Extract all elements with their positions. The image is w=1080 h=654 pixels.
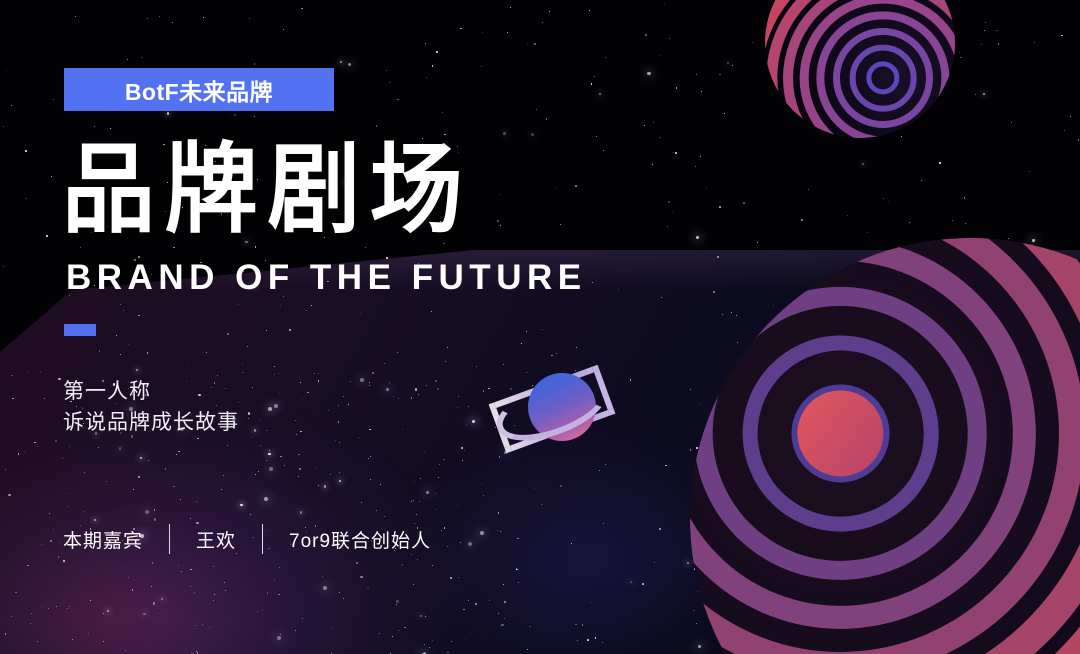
guest-divider-1 <box>169 524 170 554</box>
program-badge: BotF未来品牌 <box>64 68 334 111</box>
guest-divider-2 <box>262 524 263 554</box>
brand-poster: BotF未来品牌 品牌剧场 BRAND OF THE FUTURE 第一人称 诉… <box>0 0 1080 654</box>
tagline-line-2: 诉说品牌成长故事 <box>63 407 239 438</box>
guest-name: 王欢 <box>196 526 236 553</box>
guest-label: 本期嘉宾 <box>63 526 143 553</box>
tagline: 第一人称 诉说品牌成长故事 <box>63 376 239 438</box>
accent-dash <box>64 324 96 336</box>
guest-role: 7or9联合创始人 <box>289 526 431 553</box>
program-badge-label: BotF未来品牌 <box>125 73 273 107</box>
page-title: 品牌剧场 <box>62 140 472 238</box>
tagline-line-1: 第一人称 <box>63 376 239 407</box>
guest-row: 本期嘉宾 王欢 7or9联合创始人 <box>63 524 431 554</box>
poster-content: BotF未来品牌 品牌剧场 BRAND OF THE FUTURE 第一人称 诉… <box>0 0 1080 654</box>
page-subtitle: BRAND OF THE FUTURE <box>66 258 587 298</box>
